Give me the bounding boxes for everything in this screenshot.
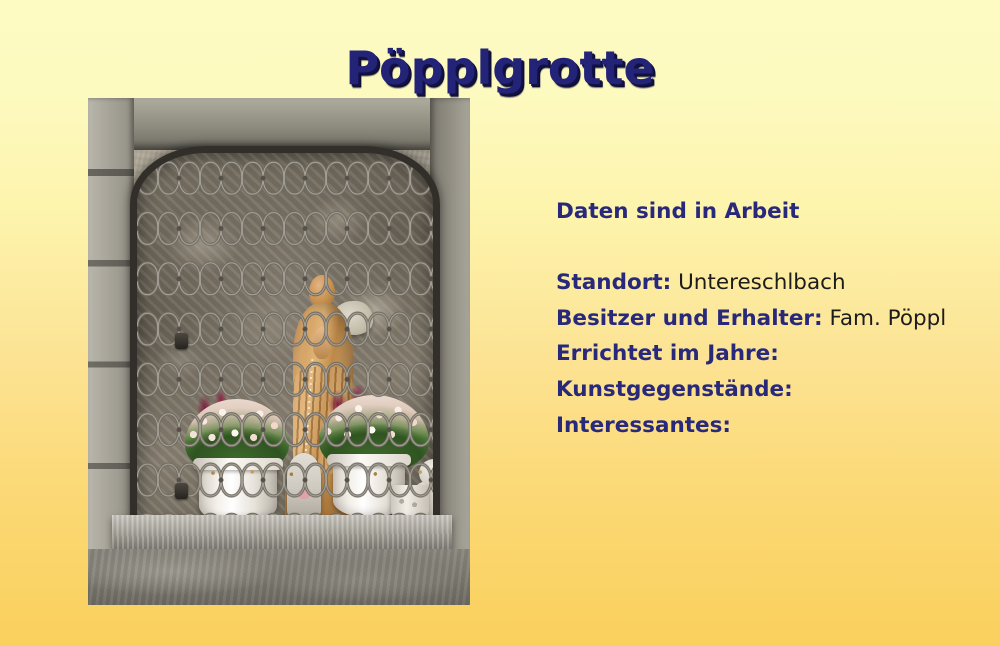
info-label-errichtet: Errichtet im Jahre: — [556, 341, 779, 366]
info-label-interessantes: Interessantes: — [556, 413, 731, 438]
info-label-besitzer: Besitzer und Erhalter: — [556, 306, 823, 331]
grille-hinge-upper — [175, 333, 188, 349]
sill-debris — [185, 467, 440, 479]
info-row-kunstgegenstaende: Kunstgegenstände: — [556, 375, 976, 405]
page-root: Pöpplgrotte — [0, 0, 1000, 646]
info-row-errichtet: Errichtet im Jahre: — [556, 339, 976, 369]
info-value-besitzer: Fam. Pöppl — [829, 306, 946, 331]
grille-hinge-lower — [175, 483, 188, 499]
info-panel: Daten sind in Arbeit Standort: Unteresch… — [556, 199, 976, 446]
base-wall — [88, 549, 470, 605]
info-heading: Daten sind in Arbeit — [556, 199, 976, 226]
info-row-interessantes: Interessantes: — [556, 411, 976, 441]
page-title: Pöpplgrotte — [345, 44, 654, 92]
cherub-planter — [391, 485, 429, 519]
info-value-standort: Untereschlbach — [678, 270, 846, 295]
info-row-besitzer: Besitzer und Erhalter: Fam. Pöppl — [556, 304, 976, 334]
statue-praying-hands — [313, 327, 331, 359]
stone-lintel — [118, 98, 470, 150]
angel-plaque — [287, 453, 321, 517]
info-row-standort: Standort: Untereschlbach — [556, 268, 976, 298]
info-label-standort: Standort: — [556, 270, 671, 295]
iron-frame — [130, 146, 440, 576]
info-label-kunstgegenstaende: Kunstgegenstände: — [556, 377, 793, 402]
photo-canvas — [88, 98, 470, 605]
title-bar: Pöpplgrotte — [0, 0, 1000, 92]
granite-sill — [112, 515, 452, 551]
grotto-photo — [88, 98, 470, 605]
